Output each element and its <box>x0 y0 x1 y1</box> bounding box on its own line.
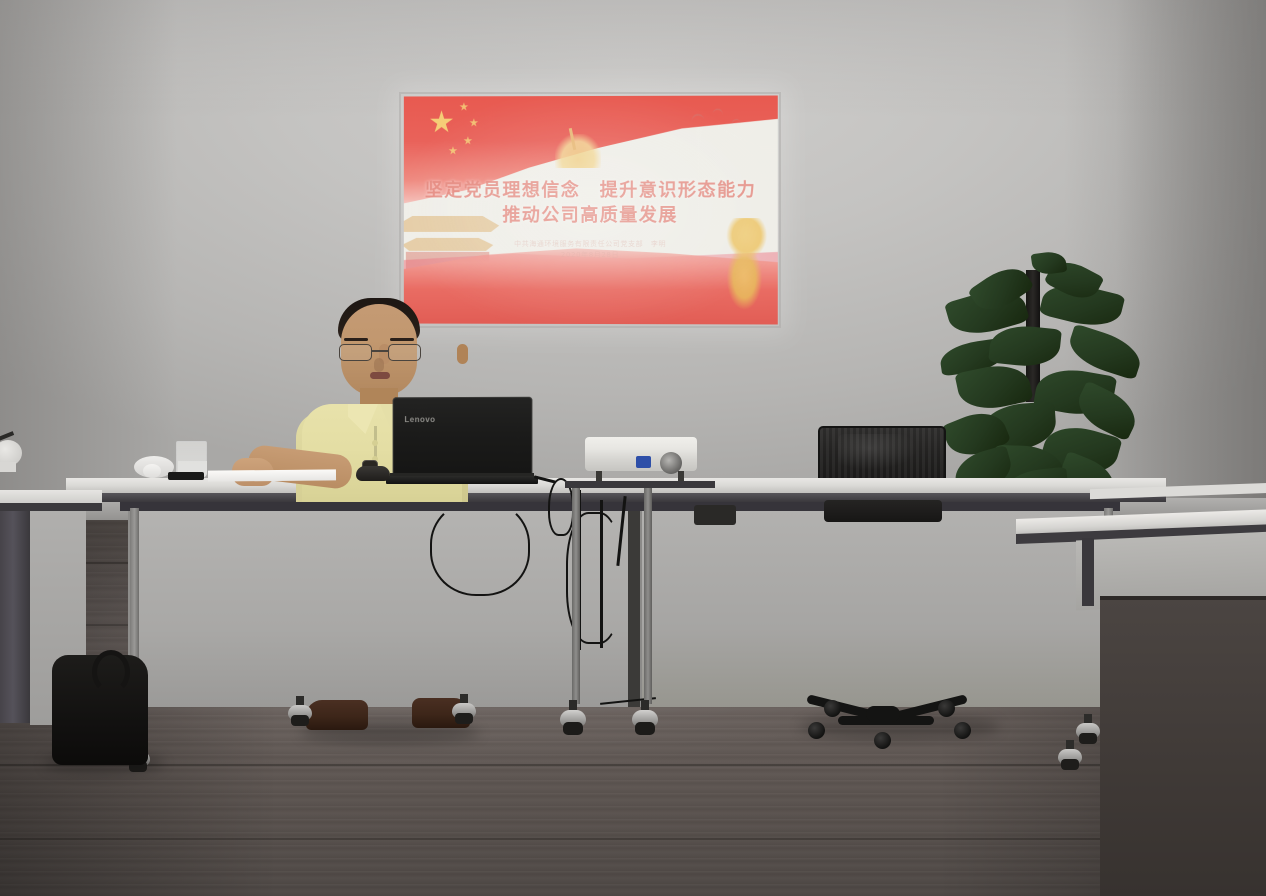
laptop-lid[interactable]: Lenovo <box>393 397 533 480</box>
projector-stand-caster <box>560 700 586 732</box>
slide-title-line-1: 坚定党员理想信念 提升意识形态能力 <box>404 178 778 203</box>
bag-strap <box>92 650 130 694</box>
paper-sheets <box>208 469 336 481</box>
power-adapter <box>694 505 736 525</box>
chair-base-hub <box>866 706 900 722</box>
laptop-brand-label: Lenovo <box>404 415 435 424</box>
laptop-base[interactable] <box>386 476 538 484</box>
computer-mouse[interactable] <box>356 466 390 481</box>
nose <box>374 358 384 372</box>
slide-title: 坚定党员理想信念 提升意识形态能力 推动公司高质量发展 <box>404 178 778 228</box>
table-caster <box>288 696 312 726</box>
left-table-back-top <box>0 462 16 472</box>
table-modesty-panel-left <box>128 511 628 707</box>
shoe-left <box>306 700 368 730</box>
projector-stand-caster <box>632 700 658 732</box>
left-table-edge <box>0 503 102 511</box>
table-caster <box>1058 740 1082 770</box>
mouth <box>370 372 390 379</box>
potted-plant <box>940 246 1150 506</box>
projector-vga-connector <box>636 456 651 468</box>
left-table-top <box>0 490 102 503</box>
office-chair-seat[interactable] <box>824 500 942 522</box>
mobile-phone[interactable] <box>168 472 204 480</box>
small-white-object <box>143 464 161 478</box>
shirt-button <box>372 440 378 446</box>
left-table-leg <box>0 511 30 723</box>
projector-stand-top <box>565 481 715 488</box>
room-photo-scene: 坚定党员理想信念 提升意识形态能力 推动公司高质量发展 中共海通环境服务有限责任… <box>0 0 1266 896</box>
table-caster <box>452 694 476 724</box>
conference-table-edge <box>66 493 1166 502</box>
chair-caster <box>954 722 971 739</box>
slide-title-line-2: 推动公司高质量发展 <box>404 203 778 228</box>
slide-subtitle: 中共海通环境服务有限责任公司党支部 李明 2020年8月28日 <box>404 239 778 261</box>
lion-statue-icon <box>717 218 773 314</box>
projected-slide: 坚定党员理想信念 提升意识形态能力 推动公司高质量发展 中共海通环境服务有限责任… <box>404 96 778 325</box>
chair-highlight <box>838 434 918 470</box>
eyebrow-right <box>390 338 414 341</box>
table-cross-rail <box>120 502 1120 511</box>
projector-stand-pole <box>572 488 580 704</box>
ear-right <box>457 344 468 364</box>
table-caster <box>1076 714 1100 744</box>
slide-subtitle-line-1: 中共海通环境服务有限责任公司党支部 李明 <box>404 239 778 250</box>
chair-caster <box>874 732 891 749</box>
eyebrow-left <box>344 338 368 341</box>
chair-caster <box>938 700 955 717</box>
chair-caster <box>824 700 841 717</box>
boat-icon <box>555 134 601 168</box>
cable <box>600 500 603 648</box>
right-table-front-panel <box>1100 600 1266 896</box>
chair-caster <box>808 722 825 739</box>
projector-stand-pole <box>644 488 652 704</box>
right-table-leg <box>1082 538 1094 606</box>
slide-subtitle-line-2: 2020年8月28日 <box>404 250 778 261</box>
cable-loop <box>430 500 530 596</box>
table-panel-gap <box>628 511 640 707</box>
